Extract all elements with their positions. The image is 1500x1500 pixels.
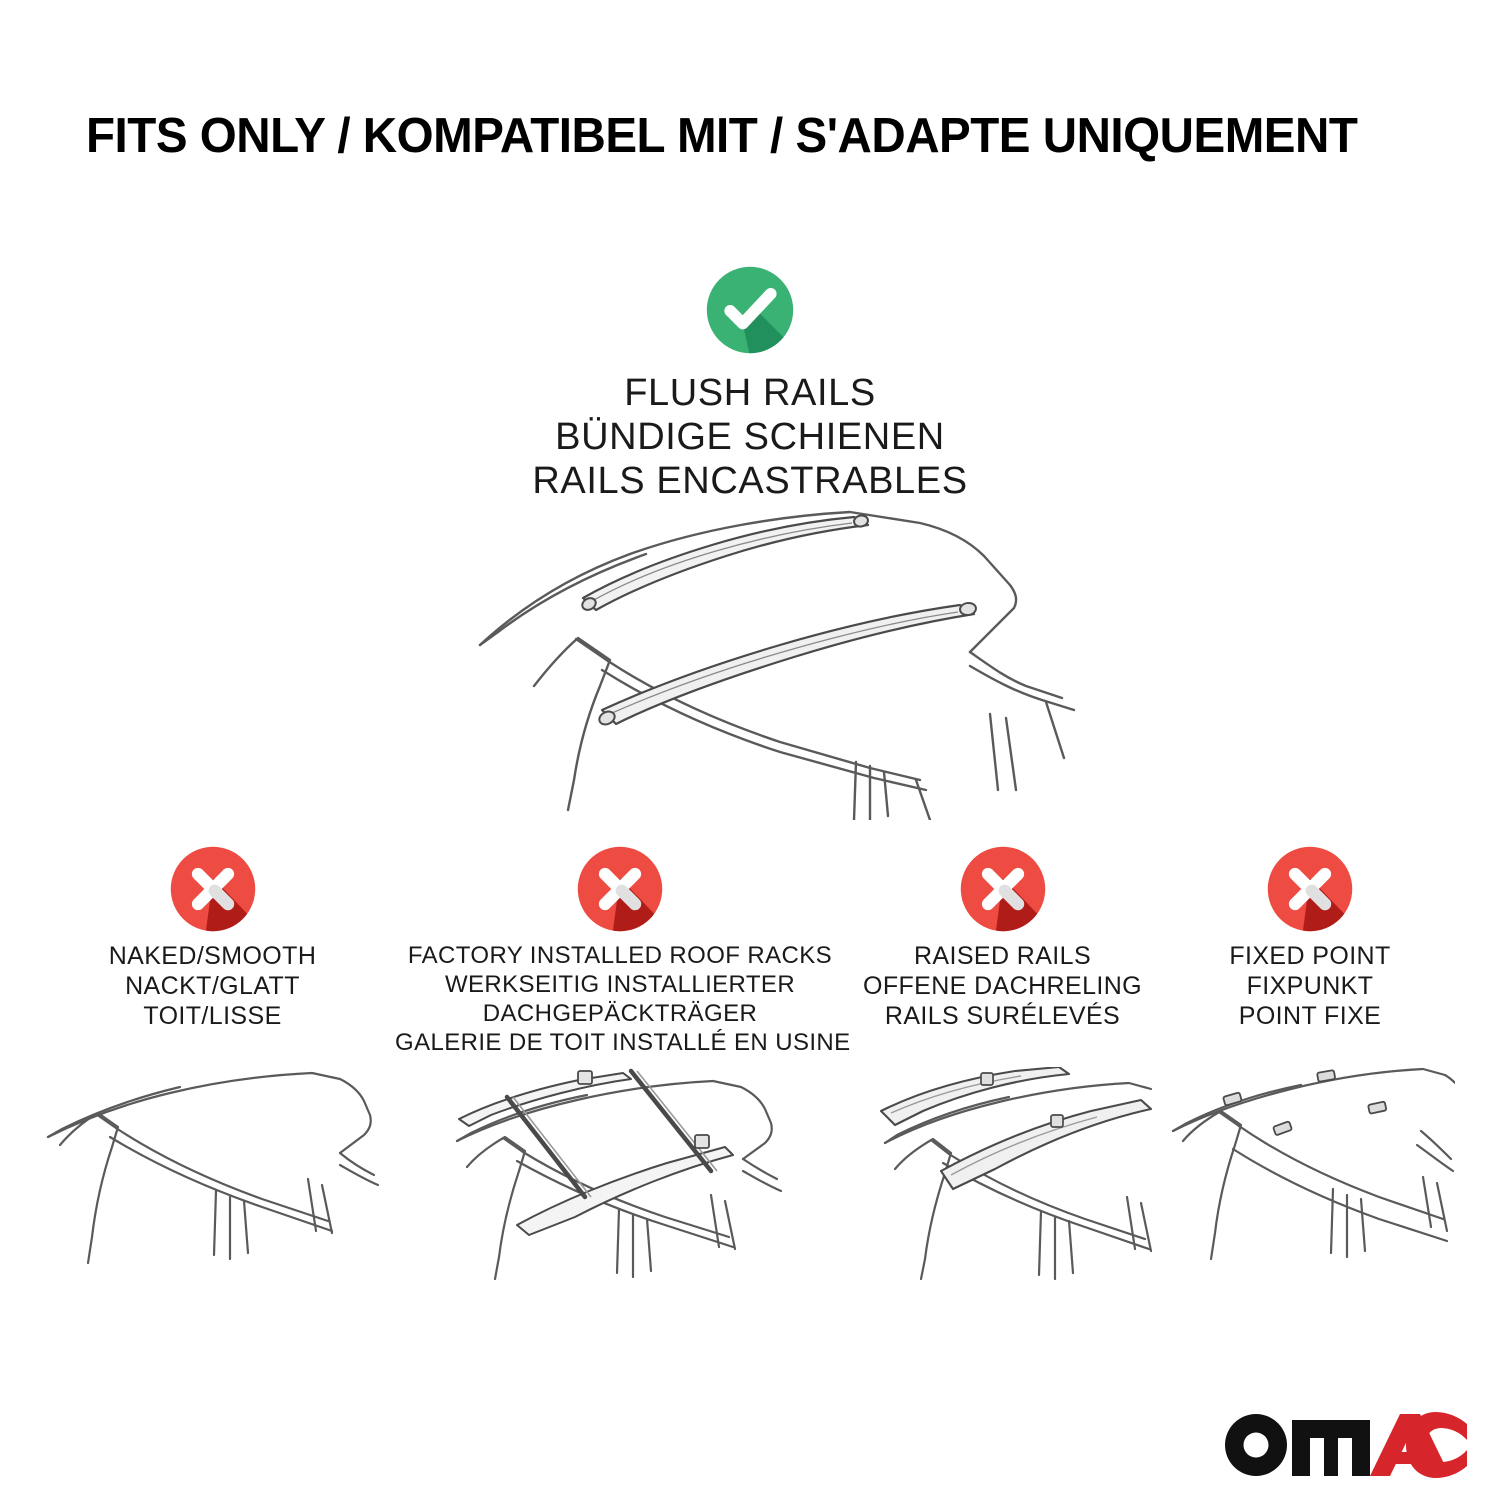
check-circle-icon [705,265,795,355]
label-fr: POINT FIXE [1165,1001,1455,1031]
incompatible-item-raised-rails: RAISED RAILS OFFENE DACHRELING RAILS SUR… [845,845,1160,1031]
label-en: FACTORY INSTALLED ROOF RACKS [395,941,845,970]
x-circle-icon [169,845,257,933]
incompatible-section: NAKED/SMOOTH NACKT/GLATT TOIT/LISSE [0,845,1500,1285]
omac-logo [1222,1408,1467,1480]
page-title: FITS ONLY / KOMPATIBEL MIT / S'ADAPTE UN… [86,106,1386,166]
label-de: FIXPUNKT [1165,971,1455,1001]
incompatible-item-naked-smooth: NAKED/SMOOTH NACKT/GLATT TOIT/LISSE [40,845,385,1031]
label-de: NACKT/GLATT [40,971,385,1001]
compatible-labels: FLUSH RAILS BÜNDIGE SCHIENEN RAILS ENCAS… [0,371,1500,503]
label-de-2: DACHGEPÄCKTRÄGER [395,999,845,1028]
label-fr: GALERIE DE TOIT INSTALLÉ EN USINE [395,1028,845,1057]
label-en: NAKED/SMOOTH [40,941,385,971]
car-roof-naked-smooth-illustration [40,1067,385,1282]
compatible-label-de: BÜNDIGE SCHIENEN [0,415,1500,459]
compatible-label-en: FLUSH RAILS [0,371,1500,415]
incompatible-labels-naked-smooth: NAKED/SMOOTH NACKT/GLATT TOIT/LISSE [40,941,385,1031]
compatible-section: FLUSH RAILS BÜNDIGE SCHIENEN RAILS ENCAS… [0,265,1500,503]
x-circle-icon [1266,845,1354,933]
label-de: OFFENE DACHRELING [845,971,1160,1001]
label-fr: RAILS SURÉLEVÉS [845,1001,1160,1031]
x-circle-icon [576,845,664,933]
x-circle-icon [959,845,1047,933]
car-roof-flush-rails-illustration [450,490,1090,820]
incompatible-labels-raised-rails: RAISED RAILS OFFENE DACHRELING RAILS SUR… [845,941,1160,1031]
incompatible-item-fixed-point: FIXED POINT FIXPUNKT POINT FIXE [1165,845,1455,1031]
car-roof-factory-racks-illustration [395,1067,845,1282]
label-en: RAISED RAILS [845,941,1160,971]
infographic-canvas: FITS ONLY / KOMPATIBEL MIT / S'ADAPTE UN… [0,0,1500,1500]
incompatible-item-factory-racks: FACTORY INSTALLED ROOF RACKS WERKSEITIG … [395,845,845,1057]
incompatible-labels-factory-racks: FACTORY INSTALLED ROOF RACKS WERKSEITIG … [395,941,845,1057]
label-en: FIXED POINT [1165,941,1455,971]
label-fr: TOIT/LISSE [40,1001,385,1031]
car-roof-raised-rails-illustration [845,1067,1160,1282]
incompatible-labels-fixed-point: FIXED POINT FIXPUNKT POINT FIXE [1165,941,1455,1031]
car-roof-fixed-point-illustration [1165,1067,1455,1282]
label-de-1: WERKSEITIG INSTALLIERTER [395,970,845,999]
